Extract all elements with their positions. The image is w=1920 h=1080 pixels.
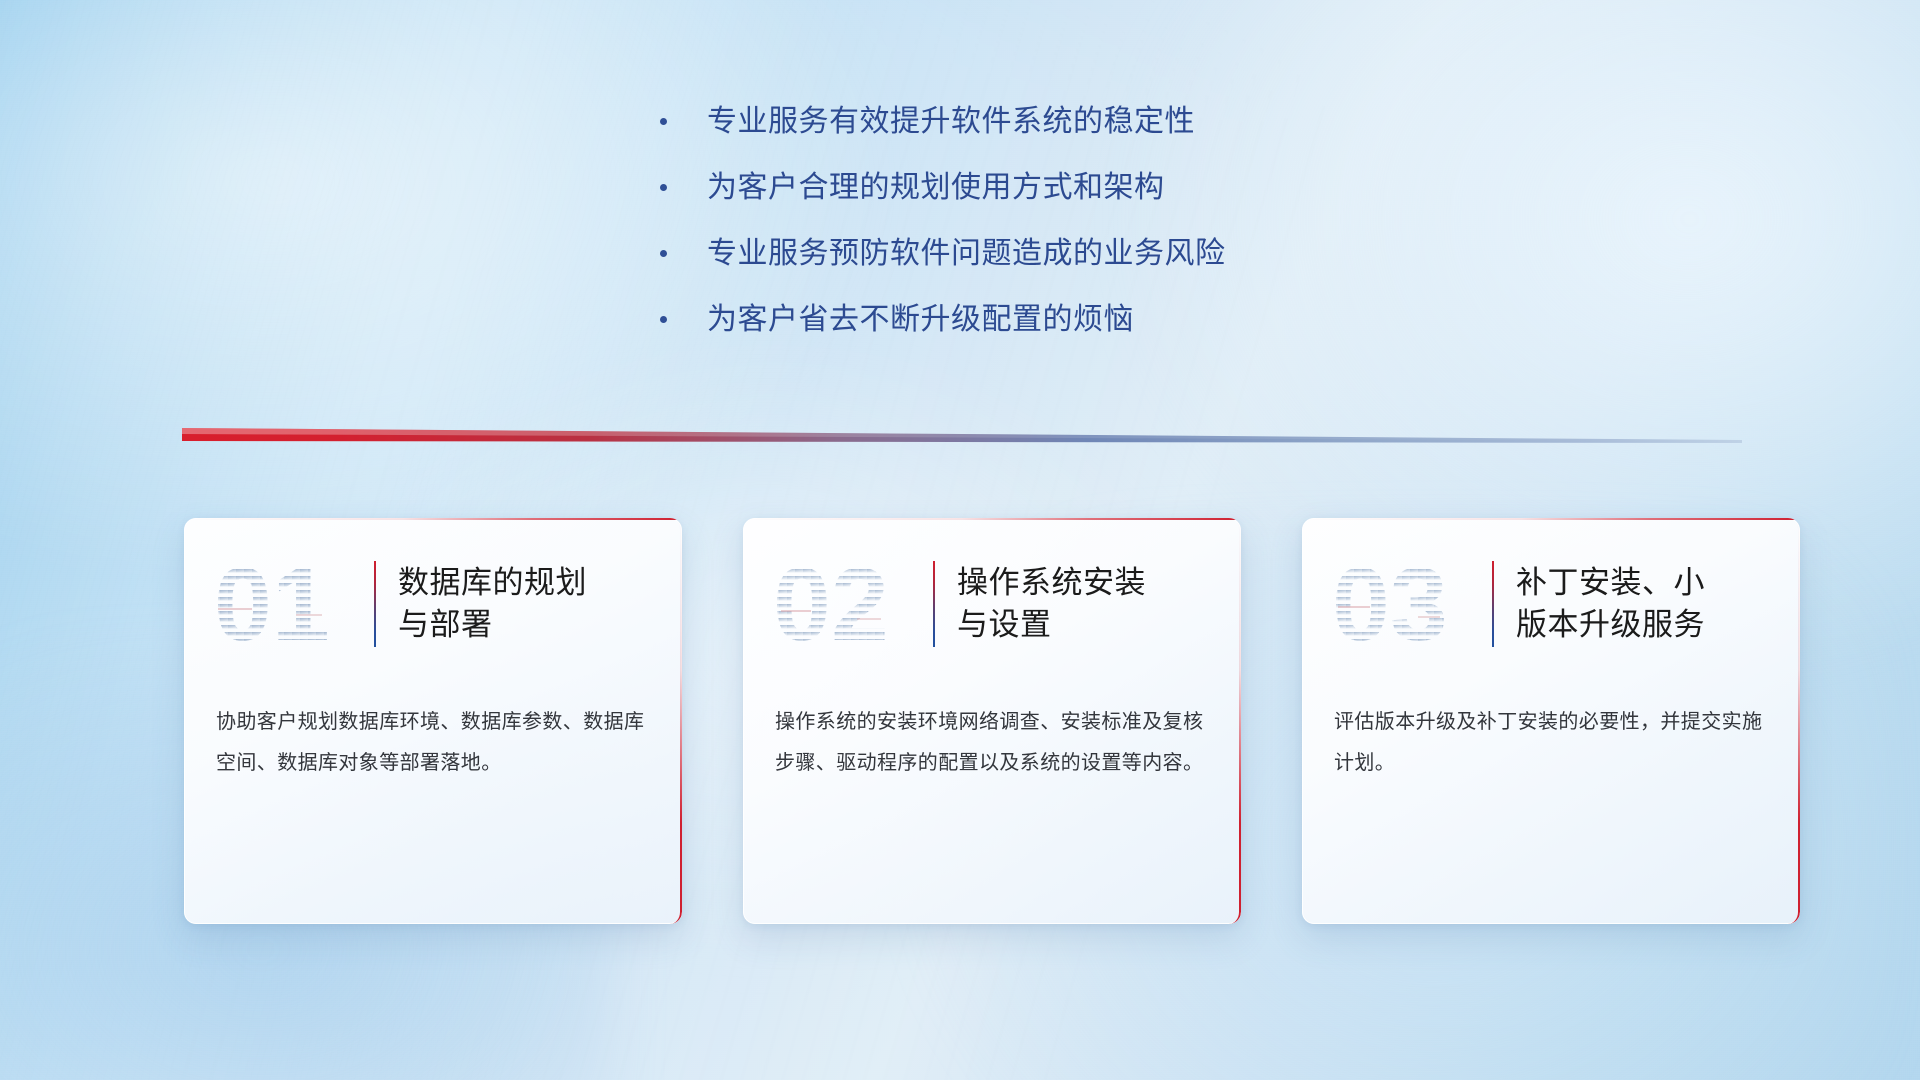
list-item: 为客户合理的规划使用方式和架构	[660, 170, 1226, 206]
service-card-03[interactable]: 03 补丁安装、小 版本升级服务 评估版本升级及补丁安装的必要性，并提交实施计划…	[1302, 518, 1800, 924]
bullet-dot-icon	[660, 184, 667, 191]
bullet-text: 为客户合理的规划使用方式和架构	[707, 170, 1165, 206]
accent-divider-shape	[182, 424, 1742, 450]
benefits-bullet-list: 专业服务有效提升软件系统的稳定性 为客户合理的规划使用方式和架构 专业服务预防软…	[660, 104, 1226, 338]
bullet-dot-icon	[660, 118, 667, 125]
striped-number-icon: 03	[1330, 548, 1488, 660]
service-card-01[interactable]: 01 01	[184, 518, 682, 924]
card-title: 数据库的规划 与部署	[398, 562, 601, 646]
card-number-03-graphic: 03	[1330, 548, 1488, 660]
card-description: 评估版本升级及补丁安装的必要性，并提交实施计划。	[1334, 702, 1772, 784]
accent-divider	[182, 424, 1742, 450]
card-title-divider	[1492, 561, 1494, 647]
bullet-text: 为客户省去不断升级配置的烦恼	[707, 302, 1134, 338]
bullet-text: 专业服务预防软件问题造成的业务风险	[707, 236, 1226, 272]
card-header: 02 操作系统安装 与设置	[743, 548, 1241, 660]
card-title: 补丁安装、小 版本升级服务	[1516, 562, 1719, 646]
bullet-text: 专业服务有效提升软件系统的稳定性	[707, 104, 1195, 140]
card-top-accent-border	[184, 518, 682, 520]
list-item: 专业服务有效提升软件系统的稳定性	[660, 104, 1226, 140]
card-top-accent-border	[1302, 518, 1800, 520]
striped-number-icon: 02	[771, 548, 929, 660]
card-title-divider	[933, 561, 935, 647]
card-description: 操作系统的安装环境网络调查、安装标准及复核步骤、驱动程序的配置以及系统的设置等内…	[775, 702, 1213, 784]
card-number-01-graphic: 01 01	[212, 548, 370, 660]
card-top-accent-border	[743, 518, 1241, 520]
list-item: 专业服务预防软件问题造成的业务风险	[660, 236, 1226, 272]
card-header: 03 补丁安装、小 版本升级服务	[1302, 548, 1800, 660]
card-number-02-graphic: 02	[771, 548, 929, 660]
card-header: 01 01	[184, 548, 682, 660]
list-item: 为客户省去不断升级配置的烦恼	[660, 302, 1226, 338]
bullet-dot-icon	[660, 250, 667, 257]
striped-number-icon: 01 01	[212, 548, 370, 660]
bullet-dot-icon	[660, 316, 667, 323]
card-title-divider	[374, 561, 376, 647]
card-description: 协助客户规划数据库环境、数据库参数、数据库空间、数据库对象等部署落地。	[216, 702, 654, 784]
card-title: 操作系统安装 与设置	[957, 562, 1160, 646]
service-card-02[interactable]: 02 操作系统安装 与设置 操作系统的安装环境网络调查、安装标准及复核步骤、驱动…	[743, 518, 1241, 924]
service-cards-row: 01 01	[184, 518, 1800, 924]
